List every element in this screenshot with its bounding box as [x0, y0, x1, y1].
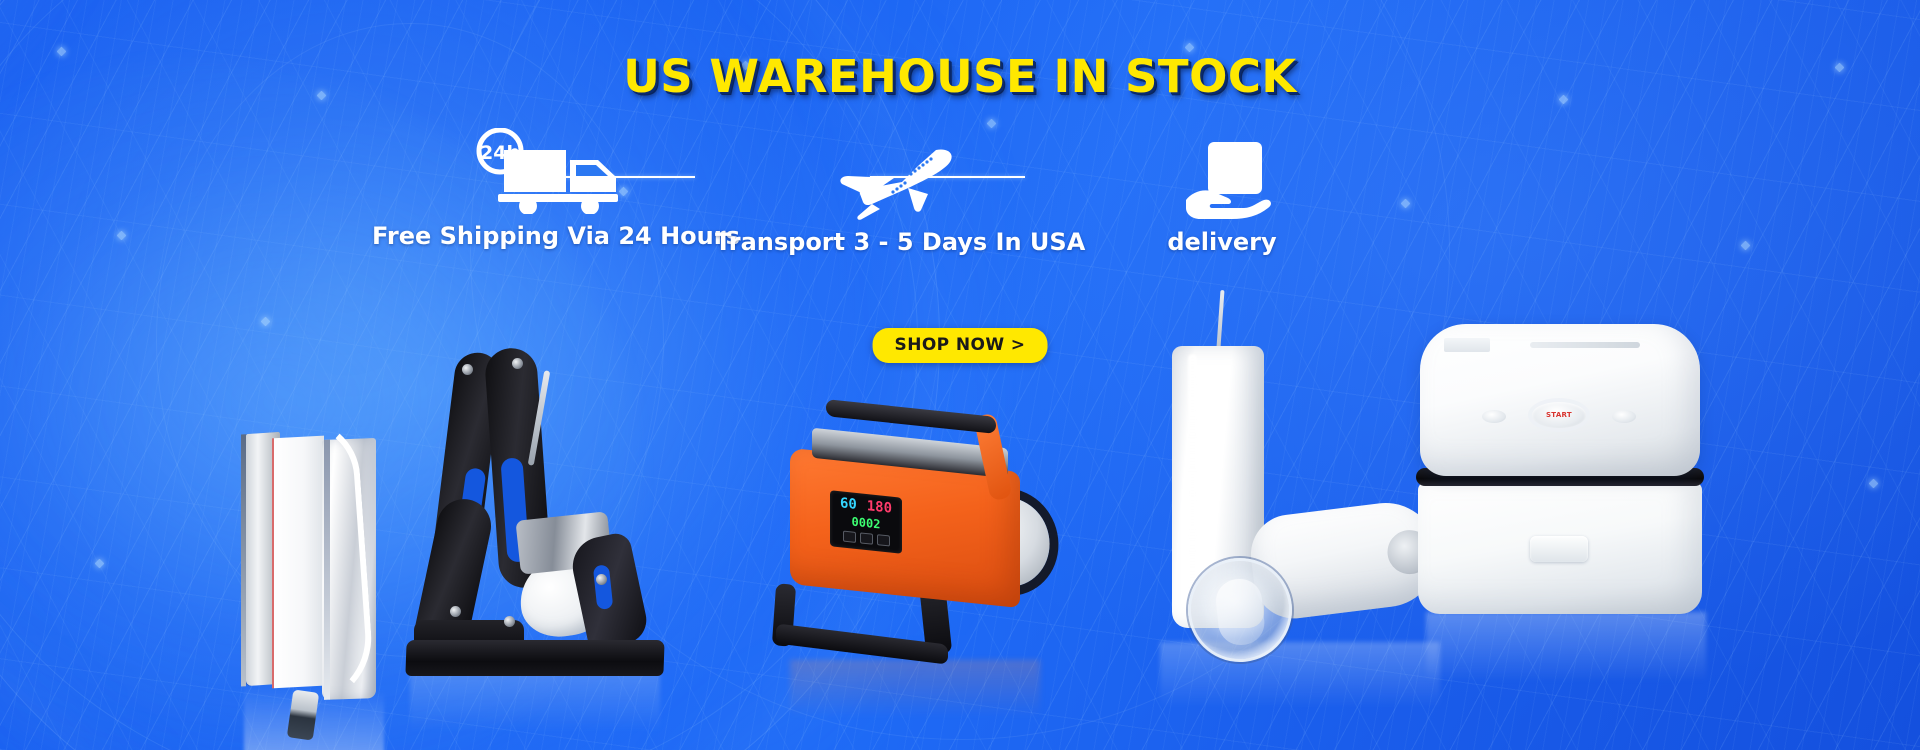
feature-list: 24h Free Shipping Via 24 Hours	[380, 126, 1400, 256]
product-white-sublimation-tumblers[interactable]	[1140, 290, 1440, 740]
product-orange-mug-heat-press[interactable]: 60 180 0002	[770, 402, 1100, 722]
oven-start-button-label: START	[1546, 411, 1572, 419]
orange-press-handle	[826, 399, 996, 434]
hand-holding-box-icon-wrap	[1060, 132, 1400, 220]
display-button-mode[interactable]	[843, 531, 856, 543]
black-press-screw	[450, 606, 461, 617]
page-title: US WAREHOUSE IN STOCK	[0, 50, 1920, 103]
promo-banner: US WAREHOUSE IN STOCK	[0, 0, 1920, 750]
hand-holding-box-icon	[1182, 138, 1278, 220]
orange-press-foot-bar	[776, 623, 948, 664]
display-button-up[interactable]	[860, 532, 873, 544]
feature-label-free-shipping: Free Shipping Via 24 Hours	[372, 222, 702, 250]
product-white-sublimation-oven[interactable]: START	[1400, 300, 1730, 730]
oven-lid: START	[1420, 324, 1700, 476]
oven-body	[1418, 482, 1702, 614]
feature-label-delivery: delivery	[1052, 228, 1392, 256]
airplane-icon	[810, 142, 960, 220]
black-press-screw	[504, 616, 515, 627]
display-temperature-value: 60	[840, 496, 857, 512]
oven-function-button-left[interactable]	[1482, 410, 1506, 423]
feature-free-shipping: 24h Free Shipping Via 24 Hours	[380, 126, 710, 250]
svg-text:24h: 24h	[480, 142, 520, 164]
black-press-screw	[512, 358, 523, 369]
airplane-icon-wrap	[715, 132, 1055, 220]
feature-delivery: delivery	[1060, 132, 1400, 256]
display-time-value: 180	[867, 499, 892, 516]
orange-press-control-display[interactable]: 60 180 0002	[830, 490, 902, 554]
black-press-reflection	[410, 672, 660, 732]
black-press-screw	[462, 364, 473, 375]
feature-transport-time: Transport 3 - 5 Days In USA	[715, 132, 1055, 256]
feature-label-transport-time: Transport 3 - 5 Days In USA	[715, 228, 1055, 256]
black-press-base	[405, 640, 664, 676]
oven-function-button-right[interactable]	[1612, 410, 1636, 423]
product-showcase: 60 180 0002	[0, 330, 1920, 750]
oven-warning-sticker	[1444, 338, 1490, 352]
oven-reflection	[1426, 612, 1706, 682]
black-press-screw	[596, 574, 607, 585]
product-heating-element-plate[interactable]	[238, 425, 388, 725]
tumblers-reflection	[1160, 642, 1440, 708]
delivery-truck-24h-icon-wrap: 24h	[380, 126, 710, 214]
oven-steam-vent	[1530, 342, 1640, 348]
oven-door-latch[interactable]	[1530, 536, 1588, 562]
oven-start-button[interactable]: START	[1532, 402, 1586, 428]
product-black-mug-heat-press[interactable]	[400, 348, 680, 728]
delivery-truck-24h-icon: 24h	[458, 128, 633, 214]
display-button-down[interactable]	[877, 534, 890, 546]
